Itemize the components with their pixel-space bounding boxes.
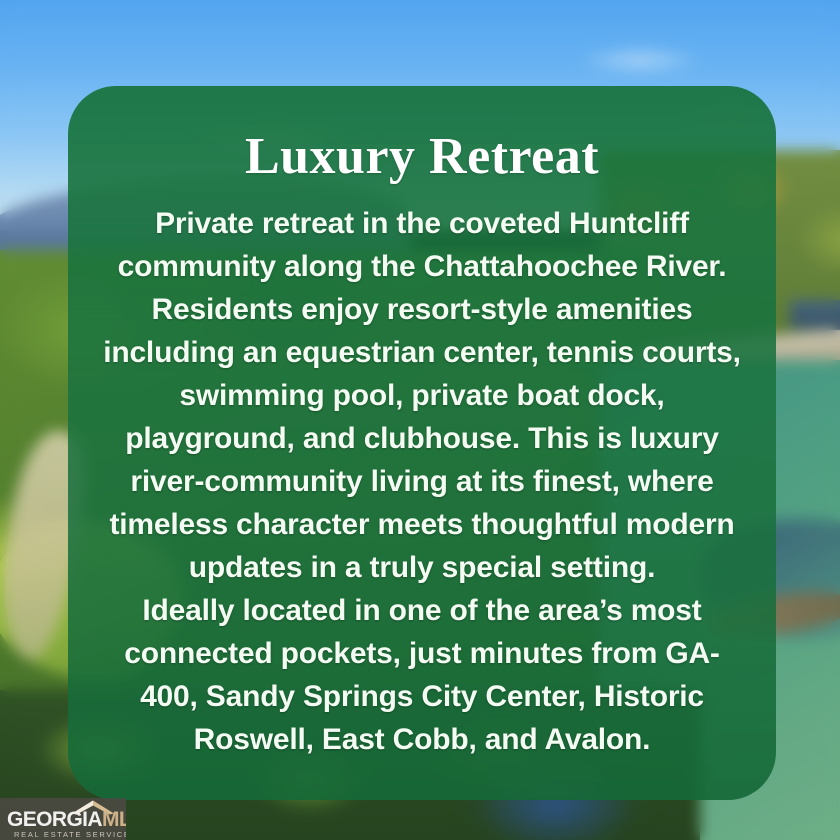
description-paragraph-2: Ideally located in one of the area’s mos… <box>96 589 748 761</box>
watermark-brand-primary: GEORGIA <box>7 808 102 831</box>
watermark-brand: GEORGIAMLS <box>7 809 126 830</box>
watermark-brand-secondary: MLS <box>102 808 126 831</box>
description-paragraph-1: Private retreat in the coveted Huntcliff… <box>96 202 748 589</box>
content-card: Luxury Retreat Private retreat in the co… <box>68 86 776 800</box>
page-title: Luxury Retreat <box>90 126 754 188</box>
watermark-tagline: REAL ESTATE SERVICES <box>14 830 126 839</box>
description-body: Private retreat in the coveted Huntcliff… <box>90 202 754 761</box>
georgia-mls-watermark: GEORGIAMLS REAL ESTATE SERVICES <box>0 798 126 840</box>
marketing-image-canvas: Luxury Retreat Private retreat in the co… <box>0 0 840 840</box>
